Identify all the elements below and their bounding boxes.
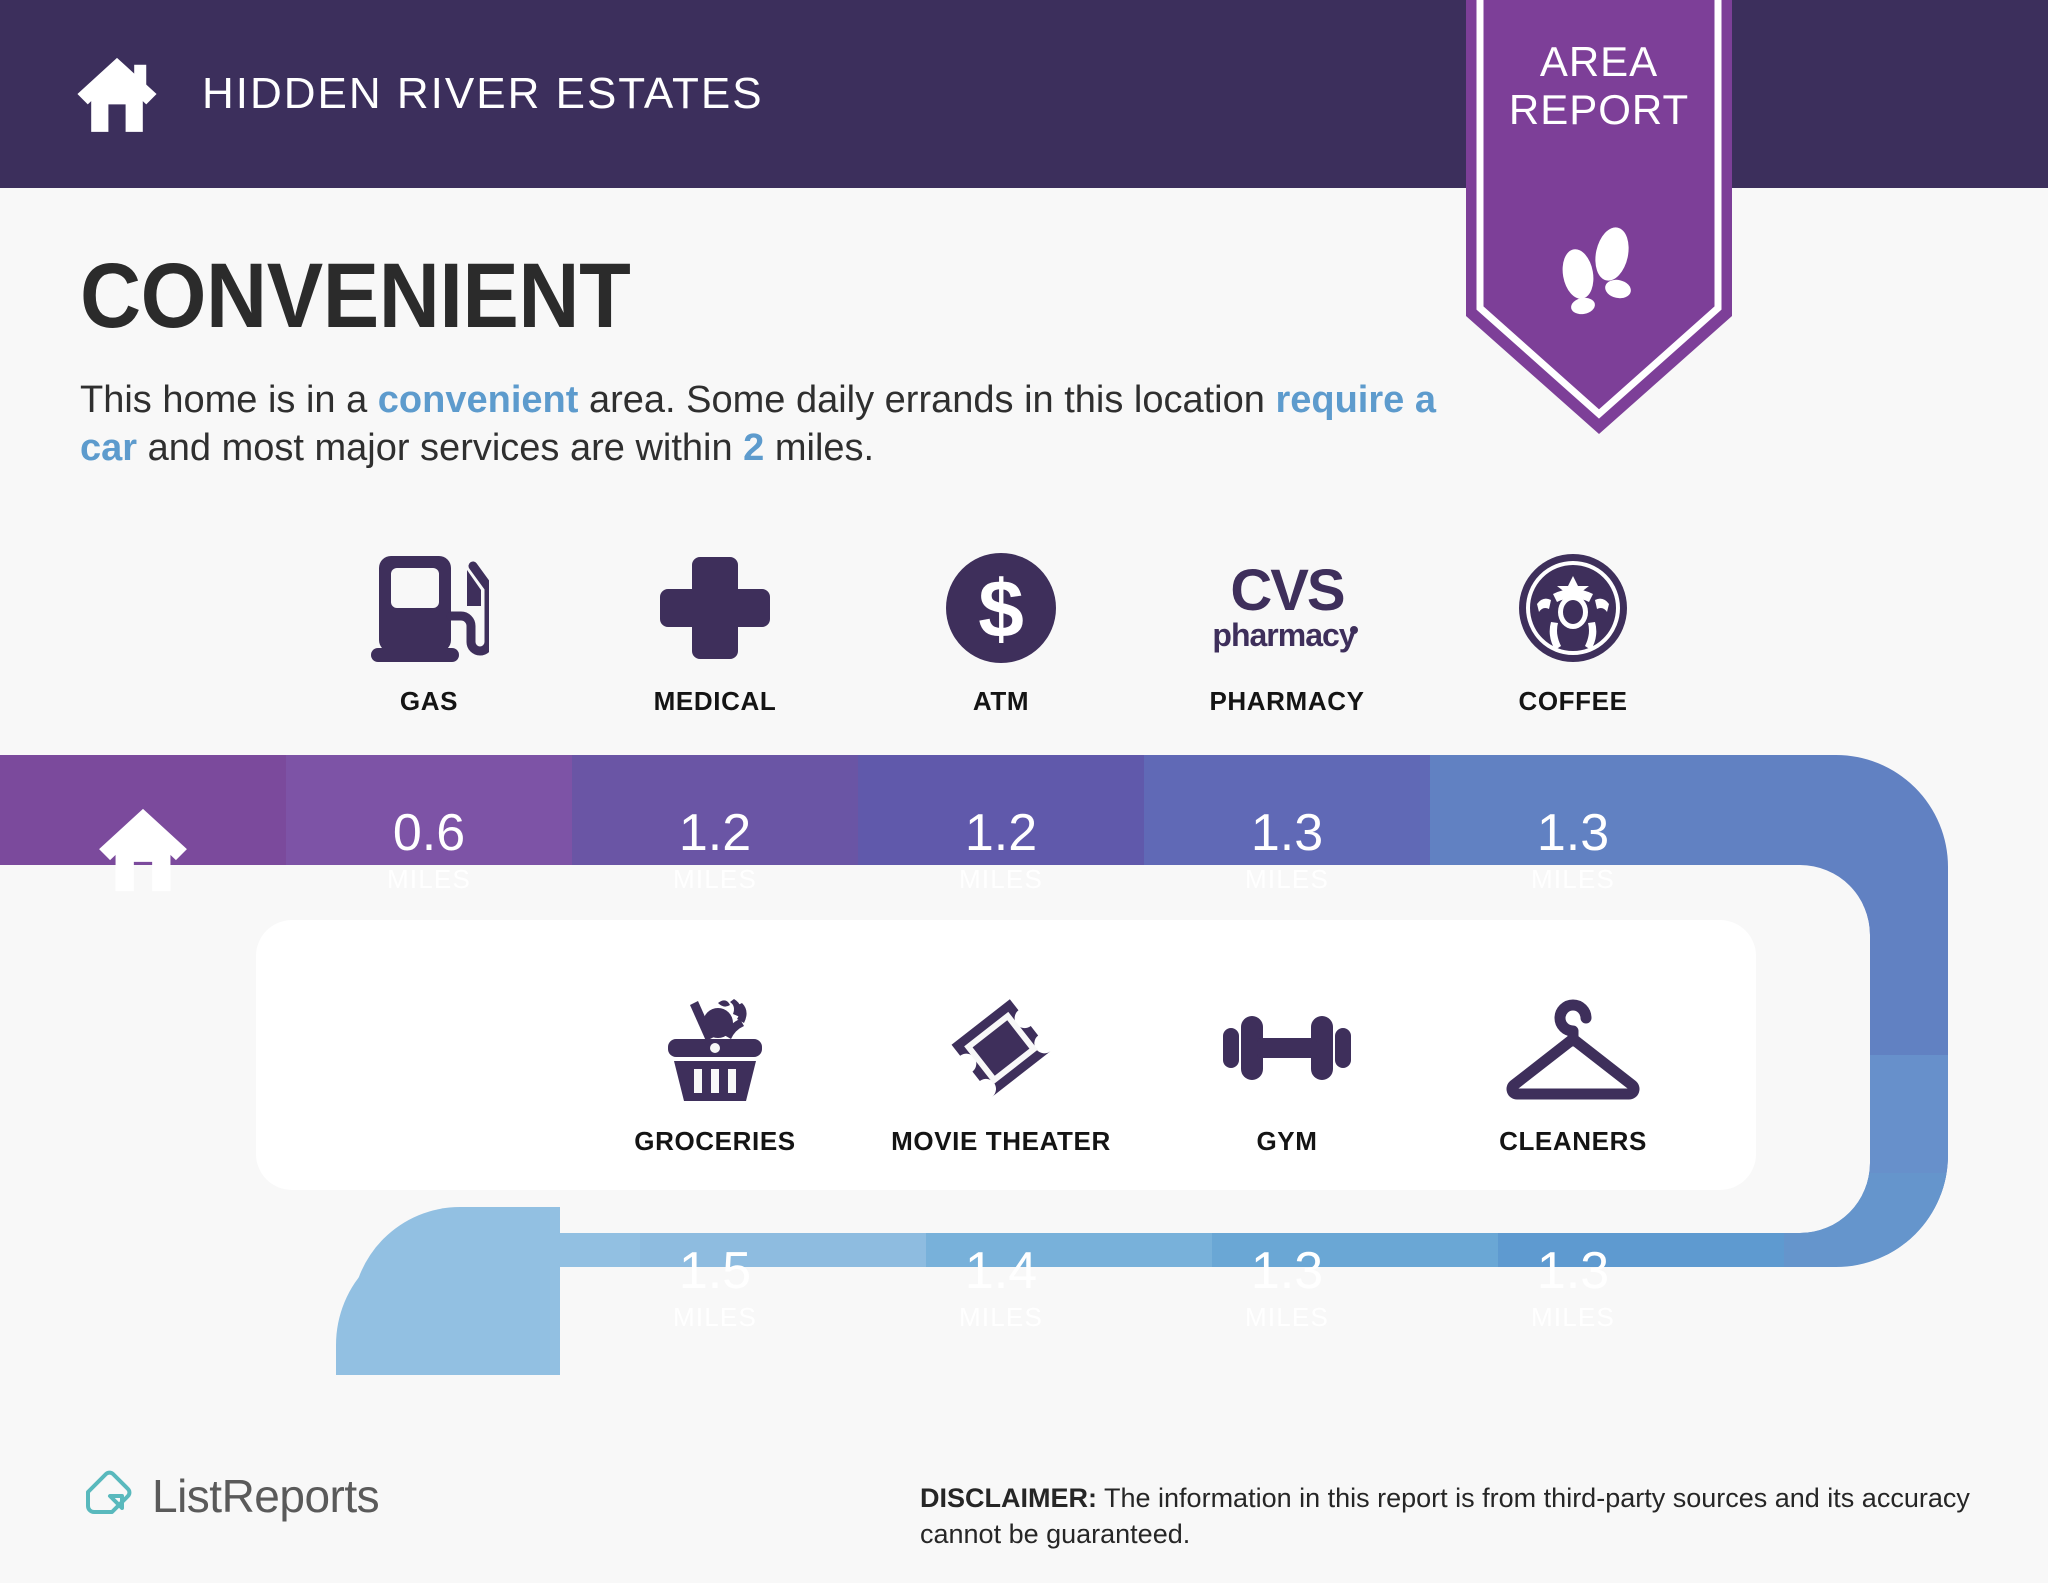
home-icon — [74, 51, 160, 137]
distance-value: 0.6 — [393, 806, 465, 860]
amenity-pharmacy: CVS pharmacy PHARMACY — [1144, 548, 1430, 717]
distance-value: 1.2 — [679, 806, 751, 860]
distance-cell-gas: 0.6 MILES — [286, 755, 572, 945]
distance-value: 1.2 — [965, 806, 1037, 860]
svg-text:CVS: CVS — [1230, 558, 1344, 623]
distance-cell-cleaners: 1.3 MILES — [1430, 1192, 1716, 1384]
amenity-label: MEDICAL — [654, 686, 777, 717]
distance-unit: MILES — [673, 864, 757, 894]
distance-unit: MILES — [387, 864, 471, 894]
svg-text:$: $ — [978, 564, 1024, 655]
distance-cell-atm: 1.2 MILES — [858, 755, 1144, 945]
distance-value: 1.3 — [1251, 1244, 1323, 1298]
distance-cell-groceries: 1.5 MILES — [572, 1192, 858, 1384]
header-title: HIDDEN RIVER ESTATES — [202, 69, 764, 119]
amenity-label: MOVIE THEATER — [891, 1126, 1111, 1157]
distance-unit: MILES — [1245, 1302, 1329, 1332]
amenity-label: GROCERIES — [634, 1126, 795, 1157]
listreports-logo: ListReports — [80, 1468, 379, 1524]
badge-line-2: REPORT — [1466, 86, 1732, 134]
distance-value: 1.5 — [679, 1244, 751, 1298]
grocery-basket-icon — [656, 988, 774, 1108]
badge-line-1: AREA — [1466, 38, 1732, 86]
listreports-house-icon — [80, 1468, 136, 1524]
distance-values-row-1: 0.6 MILES 1.2 MILES 1.2 MILES 1.3 MILES … — [286, 755, 1716, 945]
desc-seg-4: miles. — [764, 427, 874, 469]
distance-cell-pharmacy: 1.3 MILES — [1144, 755, 1430, 945]
listreports-wordmark: ListReports — [152, 1469, 379, 1523]
medical-cross-icon — [660, 548, 770, 668]
amenity-label: PHARMACY — [1209, 686, 1364, 717]
clothes-hanger-icon — [1498, 988, 1648, 1108]
desc-seg-3: and most major services are within — [137, 427, 743, 469]
distance-value: 1.3 — [1251, 806, 1323, 860]
distance-value: 1.3 — [1537, 1244, 1609, 1298]
amenity-groceries: GROCERIES — [572, 988, 858, 1157]
atm-dollar-icon: $ — [944, 548, 1058, 668]
amenity-gas: GAS — [286, 548, 572, 717]
svg-text:pharmacy: pharmacy — [1212, 617, 1356, 653]
amenity-gym: GYM — [1144, 988, 1430, 1157]
amenity-label: ATM — [973, 686, 1029, 717]
distance-cell-movie-theater: 1.4 MILES — [858, 1192, 1144, 1384]
gas-pump-icon — [369, 548, 489, 668]
desc-highlight-miles-number: 2 — [743, 427, 764, 469]
distance-unit: MILES — [1245, 864, 1329, 894]
movie-ticket-icon — [942, 988, 1060, 1108]
badge-label: AREA REPORT — [1466, 38, 1732, 134]
amenity-label: GYM — [1256, 1126, 1317, 1157]
distance-values-row-2: 1.5 MILES 1.4 MILES 1.3 MILES 1.3 MILES — [572, 1192, 1716, 1384]
disclaimer-label: DISCLAIMER: — [920, 1483, 1097, 1513]
desc-highlight-convenient: convenient — [378, 379, 579, 421]
distance-unit: MILES — [1531, 864, 1615, 894]
distance-cell-medical: 1.2 MILES — [572, 755, 858, 945]
starbucks-logo — [1517, 548, 1629, 668]
distance-unit: MILES — [673, 1302, 757, 1332]
area-report-badge: AREA REPORT — [1466, 0, 1732, 436]
distance-value: 1.3 — [1537, 806, 1609, 860]
amenity-atm: $ ATM — [858, 548, 1144, 717]
distance-unit: MILES — [959, 864, 1043, 894]
amenity-cleaners: CLEANERS — [1430, 988, 1716, 1157]
distance-unit: MILES — [1531, 1302, 1615, 1332]
amenity-label: GAS — [400, 686, 458, 717]
page-description: This home is in a convenient area. Some … — [80, 376, 1440, 472]
amenity-label: COFFEE — [1518, 686, 1627, 717]
home-marker-cell — [0, 755, 286, 945]
amenity-icon-row-2: GROCERIES MOVIE THEATER — [572, 988, 1716, 1157]
amenity-icon-row-1: GAS MEDICAL $ ATM CVS pharmacy PHARMACY — [286, 548, 1716, 717]
home-icon — [97, 807, 189, 893]
desc-seg-2: area. Some daily errands in this locatio… — [578, 379, 1275, 421]
header-bar: HIDDEN RIVER ESTATES — [0, 0, 2048, 188]
page-title: CONVENIENT — [80, 244, 630, 349]
amenity-label: CLEANERS — [1499, 1126, 1647, 1157]
dumbbell-icon — [1221, 988, 1353, 1108]
cvs-pharmacy-logo: CVS pharmacy — [1202, 548, 1372, 668]
distance-value: 1.4 — [965, 1244, 1037, 1298]
distance-cell-coffee: 1.3 MILES — [1430, 755, 1716, 945]
amenity-movie-theater: MOVIE THEATER — [858, 988, 1144, 1157]
amenity-coffee: COFFEE — [1430, 548, 1716, 717]
distance-unit: MILES — [959, 1302, 1043, 1332]
distance-cell-gym: 1.3 MILES — [1144, 1192, 1430, 1384]
desc-seg-1: This home is in a — [80, 379, 378, 421]
disclaimer: DISCLAIMER: The information in this repo… — [920, 1480, 1980, 1552]
amenity-medical: MEDICAL — [572, 548, 858, 717]
